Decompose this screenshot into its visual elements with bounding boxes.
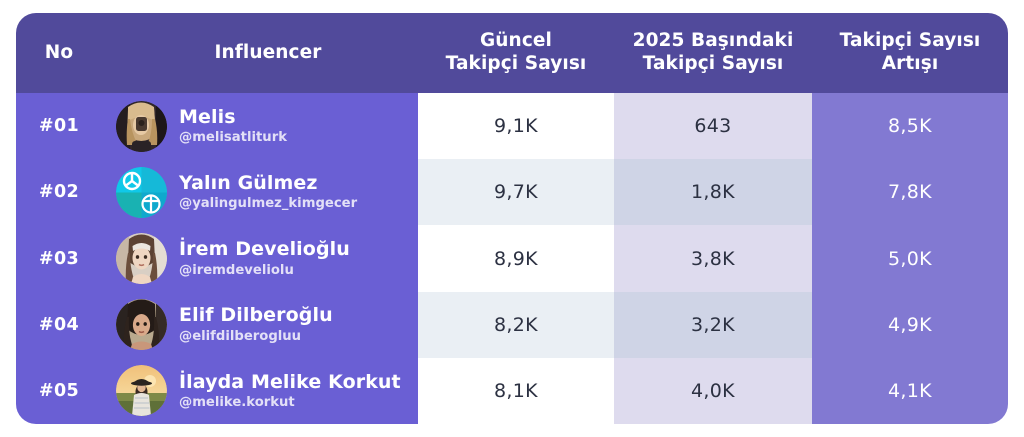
rank-cell: #02 xyxy=(16,159,102,225)
column-header-no-label: No xyxy=(45,42,73,65)
table-row[interactable]: #04 xyxy=(16,292,1008,358)
influencer-name: İrem Develioğlu xyxy=(179,238,350,260)
start-followers-cell: 4,0K xyxy=(614,358,812,424)
column-header-growth-line1: Takipçi Sayısı xyxy=(840,30,981,51)
influencer-cell[interactable]: Yalın Gülmez @yalingulmez_kimgecer xyxy=(102,159,418,225)
influencer-name: İlayda Melike Korkut xyxy=(179,371,401,393)
rank-label: #05 xyxy=(39,381,79,401)
influencer-names: Elif Dilberoğlu @elifdilberogluu xyxy=(179,304,333,345)
column-header-growth-line2: Artışı xyxy=(882,53,939,74)
influencer-handle: @melike.korkut xyxy=(179,394,401,411)
column-header-growth: Takipçi Sayısı Artışı xyxy=(812,13,1008,93)
current-followers-cell: 8,9K xyxy=(418,225,614,291)
column-header-start-followers-line1: 2025 Başındaki xyxy=(633,30,794,51)
influencer-ranking-table: No Influencer Güncel Takipçi Sayısı 2025… xyxy=(16,13,1008,424)
rank-cell: #05 xyxy=(16,358,102,424)
table-row[interactable]: #02 xyxy=(16,159,1008,225)
start-followers-value: 1,8K xyxy=(691,181,735,203)
current-followers-value: 8,1K xyxy=(494,380,538,402)
column-header-start-followers-label: 2025 Başındaki Takipçi Sayısı xyxy=(633,30,794,75)
column-header-current-followers-line2: Takipçi Sayısı xyxy=(446,53,587,74)
influencer-name: Yalın Gülmez xyxy=(179,172,357,194)
avatar xyxy=(116,365,167,416)
current-followers-cell: 8,1K xyxy=(418,358,614,424)
rank-cell: #04 xyxy=(16,292,102,358)
current-followers-cell: 9,1K xyxy=(418,93,614,159)
rank-label: #01 xyxy=(39,116,79,136)
table-body: #01 xyxy=(16,93,1008,424)
start-followers-value: 3,8K xyxy=(691,248,735,270)
growth-value: 4,9K xyxy=(888,314,932,336)
start-followers-value: 4,0K xyxy=(691,380,735,402)
avatar xyxy=(116,233,167,284)
start-followers-value: 3,2K xyxy=(691,314,735,336)
avatar xyxy=(116,101,167,152)
column-header-influencer-label: Influencer xyxy=(215,42,322,65)
start-followers-cell: 3,2K xyxy=(614,292,812,358)
influencer-handle: @elifdilberogluu xyxy=(179,328,333,345)
rank-label: #04 xyxy=(39,315,79,335)
growth-value: 8,5K xyxy=(888,115,932,137)
current-followers-value: 8,9K xyxy=(494,248,538,270)
avatar xyxy=(116,167,167,218)
table-row[interactable]: #05 xyxy=(16,358,1008,424)
growth-value: 5,0K xyxy=(888,248,932,270)
influencer-handle: @melisatliturk xyxy=(179,129,287,146)
start-followers-value: 643 xyxy=(694,115,731,137)
influencer-handle: @yalingulmez_kimgecer xyxy=(179,195,357,212)
growth-value: 4,1K xyxy=(888,380,932,402)
table-header-row: No Influencer Güncel Takipçi Sayısı 2025… xyxy=(16,13,1008,93)
start-followers-cell: 643 xyxy=(614,93,812,159)
column-header-growth-label: Takipçi Sayısı Artışı xyxy=(840,30,981,75)
growth-value: 7,8K xyxy=(888,181,932,203)
column-header-current-followers-line1: Güncel xyxy=(480,30,552,51)
start-followers-cell: 1,8K xyxy=(614,159,812,225)
start-followers-cell: 3,8K xyxy=(614,225,812,291)
growth-cell: 8,5K xyxy=(812,93,1008,159)
table-row[interactable]: #03 xyxy=(16,225,1008,291)
current-followers-cell: 9,7K xyxy=(418,159,614,225)
growth-cell: 7,8K xyxy=(812,159,1008,225)
column-header-current-followers-label: Güncel Takipçi Sayısı xyxy=(446,30,587,75)
rank-label: #02 xyxy=(39,182,79,202)
rank-cell: #03 xyxy=(16,225,102,291)
column-header-influencer: Influencer xyxy=(102,13,418,93)
current-followers-value: 9,1K xyxy=(494,115,538,137)
current-followers-cell: 8,2K xyxy=(418,292,614,358)
influencer-cell[interactable]: Elif Dilberoğlu @elifdilberogluu xyxy=(102,292,418,358)
current-followers-value: 9,7K xyxy=(494,181,538,203)
column-header-current-followers: Güncel Takipçi Sayısı xyxy=(418,13,614,93)
growth-cell: 4,9K xyxy=(812,292,1008,358)
influencer-name: Melis xyxy=(179,106,287,128)
table-row[interactable]: #01 xyxy=(16,93,1008,159)
influencer-names: Melis @melisatliturk xyxy=(179,106,287,147)
influencer-names: İlayda Melike Korkut @melike.korkut xyxy=(179,371,401,412)
column-header-start-followers-line2: Takipçi Sayısı xyxy=(643,53,784,74)
influencer-names: Yalın Gülmez @yalingulmez_kimgecer xyxy=(179,172,357,213)
influencer-handle: @iremdeveliolu xyxy=(179,262,350,279)
rank-cell: #01 xyxy=(16,93,102,159)
column-header-start-followers: 2025 Başındaki Takipçi Sayısı xyxy=(614,13,812,93)
growth-cell: 5,0K xyxy=(812,225,1008,291)
column-header-no: No xyxy=(16,13,102,93)
avatar xyxy=(116,299,167,350)
rank-label: #03 xyxy=(39,249,79,269)
influencer-cell[interactable]: İlayda Melike Korkut @melike.korkut xyxy=(102,358,418,424)
influencer-cell[interactable]: İrem Develioğlu @iremdeveliolu xyxy=(102,225,418,291)
influencer-cell[interactable]: Melis @melisatliturk xyxy=(102,93,418,159)
influencer-names: İrem Develioğlu @iremdeveliolu xyxy=(179,238,350,279)
influencer-name: Elif Dilberoğlu xyxy=(179,304,333,326)
current-followers-value: 8,2K xyxy=(494,314,538,336)
growth-cell: 4,1K xyxy=(812,358,1008,424)
